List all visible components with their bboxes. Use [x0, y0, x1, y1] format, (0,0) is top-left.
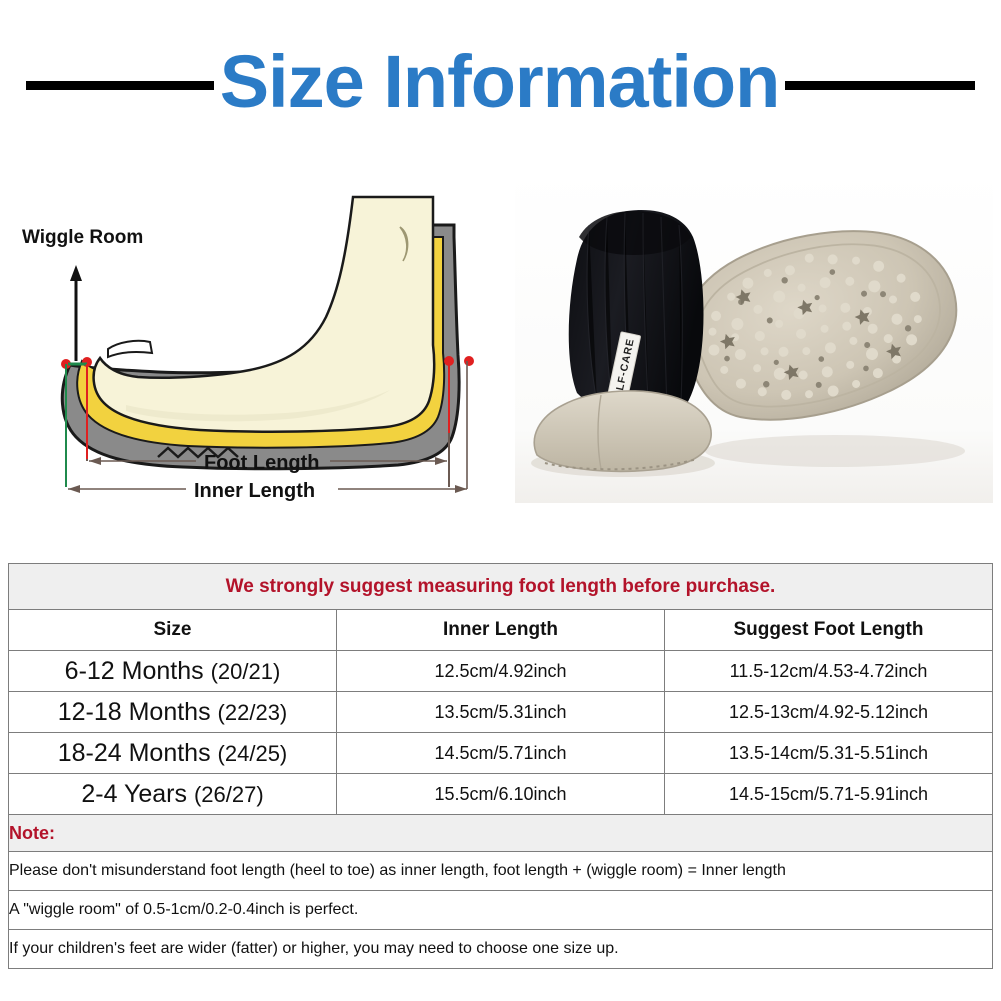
cell-suggest-foot-length: 11.5-12cm/4.53-4.72inch — [665, 651, 993, 692]
product-photo: SELF-CARE — [515, 167, 993, 503]
notes-row: A "wiggle room" of 0.5-1cm/0.2-0.4inch i… — [9, 891, 993, 930]
note-line: If your children's feet are wider (fatte… — [9, 930, 993, 969]
page-title: Size Information — [220, 45, 780, 119]
size-age: 2-4 Years — [81, 780, 187, 808]
table-row: 12-18 Months (22/23) 13.5cm/5.31inch 12.… — [9, 692, 993, 733]
heel-back-marker — [464, 356, 474, 366]
table-banner-row: We strongly suggest measuring foot lengt… — [9, 564, 993, 610]
cell-inner-length: 13.5cm/5.31inch — [337, 692, 665, 733]
column-header-inner-length: Inner Length — [337, 610, 665, 651]
size-chart-body: We strongly suggest measuring foot lengt… — [9, 564, 993, 969]
inner-length-label: Inner Length — [194, 480, 315, 502]
note-line: A "wiggle room" of 0.5-1cm/0.2-0.4inch i… — [9, 891, 993, 930]
size-eu: (24/25) — [218, 741, 288, 766]
foot-length-arrow-left — [89, 457, 101, 465]
cell-inner-length: 15.5cm/6.10inch — [337, 774, 665, 815]
cell-suggest-foot-length: 14.5-15cm/5.71-5.91inch — [665, 774, 993, 815]
cell-suggest-foot-length: 13.5-14cm/5.31-5.51inch — [665, 733, 993, 774]
size-eu: (20/21) — [211, 659, 281, 684]
floor-shadow-right — [705, 435, 965, 467]
cell-size: 6-12 Months (20/21) — [9, 651, 337, 692]
wiggle-room-label: Wiggle Room — [22, 227, 143, 248]
inner-length-arrow-left — [68, 485, 80, 493]
notes-heading-row: Note: — [9, 815, 993, 852]
foot-length-arrow-right — [435, 457, 447, 465]
notes-heading: Note: — [9, 815, 993, 852]
wiggle-room-arrow-head — [70, 265, 82, 281]
size-eu: (26/27) — [194, 782, 264, 807]
size-age: 6-12 Months — [65, 657, 204, 685]
table-row: 18-24 Months (24/25) 14.5cm/5.71inch 13.… — [9, 733, 993, 774]
column-header-suggest-foot-length: Suggest Foot Length — [665, 610, 993, 651]
cell-suggest-foot-length: 12.5-13cm/4.92-5.12inch — [665, 692, 993, 733]
cell-inner-length: 12.5cm/4.92inch — [337, 651, 665, 692]
inner-length-arrow-right — [455, 485, 467, 493]
note-line: Please don't misunderstand foot length (… — [9, 852, 993, 891]
foot-length-label: Foot Length — [204, 452, 320, 474]
cell-size: 2-4 Years (26/27) — [9, 774, 337, 815]
title-rule-left — [26, 81, 214, 90]
column-header-size: Size — [9, 610, 337, 651]
size-age: 18-24 Months — [58, 739, 211, 767]
measure-advice-banner: We strongly suggest measuring foot lengt… — [9, 564, 993, 610]
cell-size: 12-18 Months (22/23) — [9, 692, 337, 733]
size-age: 12-18 Months — [58, 698, 211, 726]
page-header: Size Information — [0, 36, 1001, 128]
foot-measurement-diagram: Wiggle Room Foot Length Inner Length — [8, 165, 506, 510]
cell-size: 18-24 Months (24/25) — [9, 733, 337, 774]
cell-inner-length: 14.5cm/5.71inch — [337, 733, 665, 774]
title-rule-right — [785, 81, 975, 90]
table-header-row: Size Inner Length Suggest Foot Length — [9, 610, 993, 651]
size-chart-table: We strongly suggest measuring foot lengt… — [8, 563, 993, 969]
table-row: 2-4 Years (26/27) 15.5cm/6.10inch 14.5-1… — [9, 774, 993, 815]
foot-shape — [94, 197, 435, 432]
notes-row: Please don't misunderstand foot length (… — [9, 852, 993, 891]
notes-row: If your children's feet are wider (fatte… — [9, 930, 993, 969]
size-eu: (22/23) — [218, 700, 288, 725]
toe-separation-line — [108, 341, 152, 357]
table-row: 6-12 Months (20/21) 12.5cm/4.92inch 11.5… — [9, 651, 993, 692]
